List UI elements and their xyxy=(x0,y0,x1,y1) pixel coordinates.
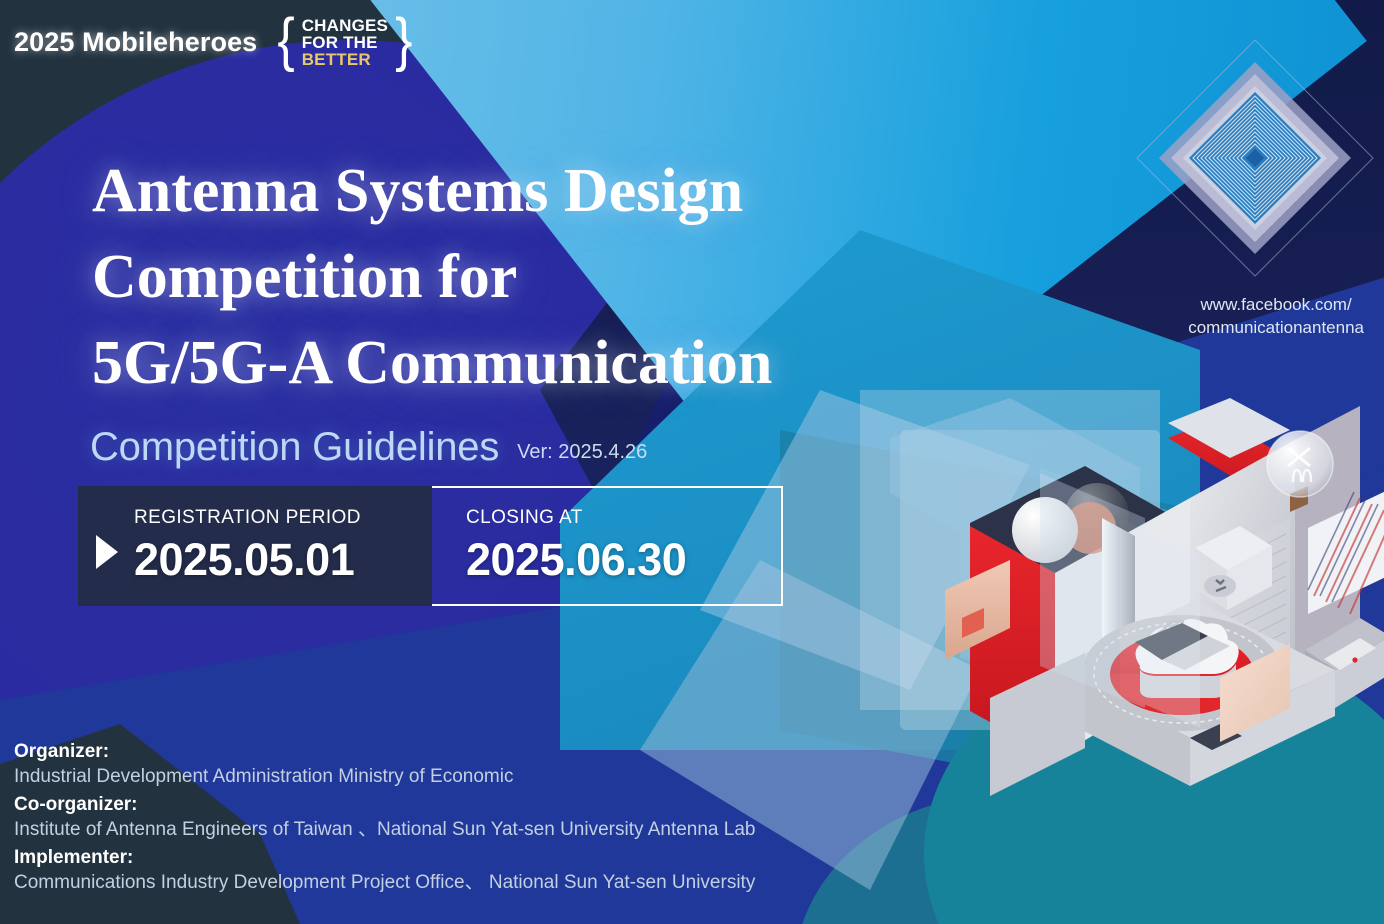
title-line-2: Competition for xyxy=(92,234,772,320)
subtitle-row: Competition Guidelines Ver: 2025.4.26 xyxy=(90,425,647,470)
page-title: Antenna Systems Design Competition for 5… xyxy=(92,148,772,406)
date-banner: REGISTRATION PERIOD 2025.05.01 CLOSING A… xyxy=(78,486,783,606)
slogan-line-3: BETTER xyxy=(302,51,388,68)
concentric-diamond-logo xyxy=(1128,40,1382,292)
facebook-url-line-1: www.facebook.com/ xyxy=(1188,294,1364,317)
title-line-1: Antenna Systems Design xyxy=(92,148,772,234)
closing-value: 2025.06.30 xyxy=(466,534,686,586)
closing-at-box: CLOSING AT 2025.06.30 xyxy=(432,486,783,606)
coorganizer-label: Co-organizer: xyxy=(14,792,755,817)
header-bar: 2025 Mobileheroes { CHANGES FOR THE BETT… xyxy=(14,16,414,68)
brace-right-icon: } xyxy=(395,10,412,70)
closing-text-group: CLOSING AT 2025.06.30 xyxy=(466,507,686,586)
brace-left-icon: { xyxy=(277,10,294,70)
title-line-3: 5G/5G-A Communication xyxy=(92,320,772,406)
brand-title: 2025 Mobileheroes xyxy=(14,27,257,58)
registration-period-box: REGISTRATION PERIOD 2025.05.01 xyxy=(78,486,432,606)
organizer-label: Organizer: xyxy=(14,739,755,764)
facebook-url-line-2: communicationantenna xyxy=(1188,317,1364,340)
implementer-label: Implementer: xyxy=(14,845,755,870)
registration-value: 2025.05.01 xyxy=(134,534,361,586)
subtitle-text: Competition Guidelines xyxy=(90,425,499,470)
coorganizer-value: Institute of Antenna Engineers of Taiwan… xyxy=(14,817,755,844)
isometric-smart-room-illustration xyxy=(890,378,1384,924)
registration-label: REGISTRATION PERIOD xyxy=(134,507,361,529)
poster-canvas: 2025 Mobileheroes { CHANGES FOR THE BETT… xyxy=(0,0,1384,924)
play-triangle-icon xyxy=(96,535,118,569)
facebook-url-block[interactable]: www.facebook.com/ communicationantenna xyxy=(1188,294,1364,340)
slogan-lines: CHANGES FOR THE BETTER xyxy=(302,17,388,68)
organizer-value: Industrial Development Administration Mi… xyxy=(14,764,755,791)
credits-block: Organizer: Industrial Development Admini… xyxy=(14,739,755,898)
changes-for-the-better-logo: { CHANGES FOR THE BETTER } xyxy=(275,16,414,68)
slogan-line-1: CHANGES xyxy=(302,17,388,34)
slogan-line-2: FOR THE xyxy=(302,34,388,51)
closing-label: CLOSING AT xyxy=(466,507,686,529)
implementer-value: Communications Industry Development Proj… xyxy=(14,870,755,897)
version-text: Ver: 2025.4.26 xyxy=(517,441,647,470)
registration-text-group: REGISTRATION PERIOD 2025.05.01 xyxy=(134,507,361,586)
